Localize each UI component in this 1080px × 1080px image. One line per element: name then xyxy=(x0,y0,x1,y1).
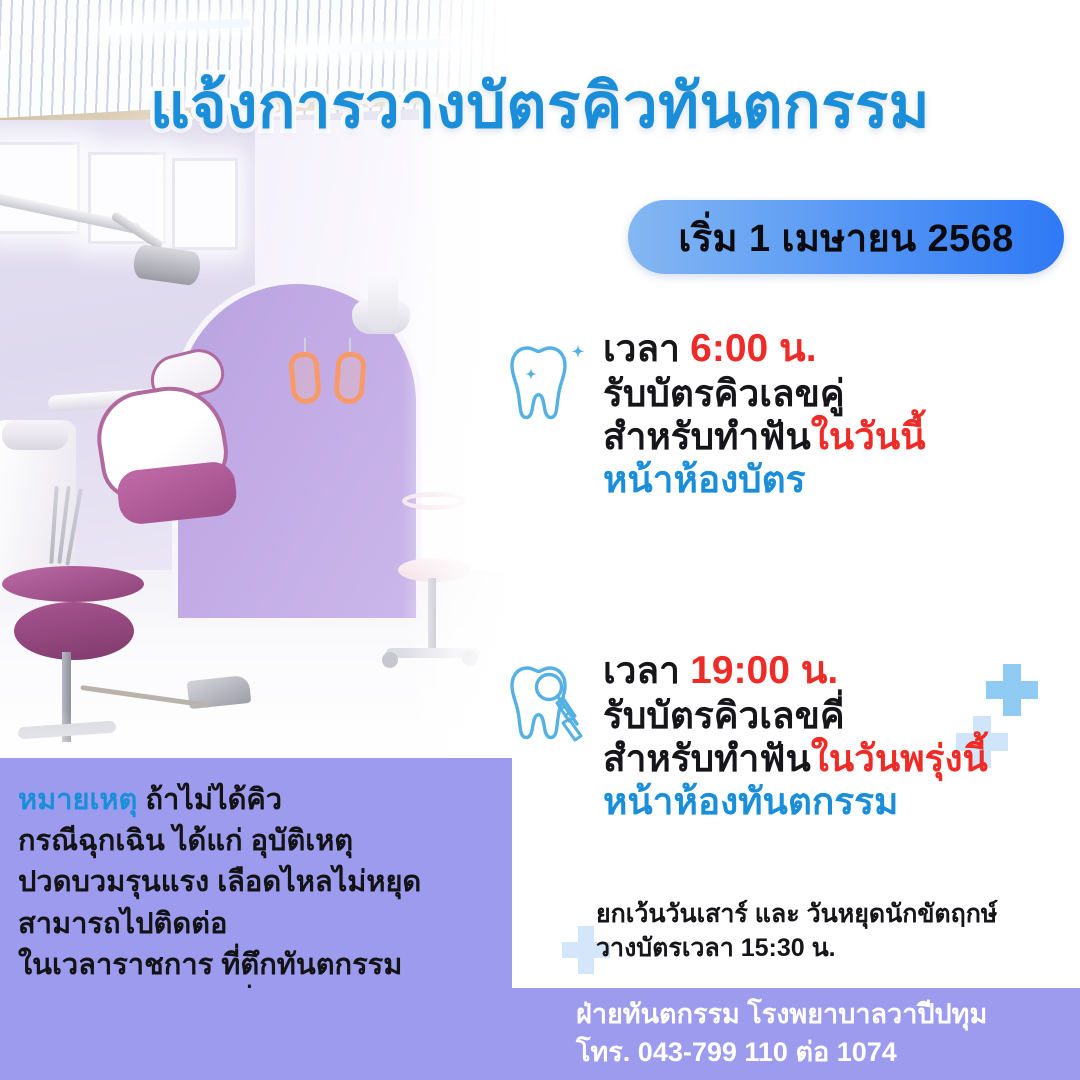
window xyxy=(0,142,80,234)
window xyxy=(172,158,238,250)
remark-label: หมายเหตุ xyxy=(18,784,137,816)
start-date-badge: เริ่ม 1 เมษายน 2568 xyxy=(628,200,1064,274)
orange-hanging-item xyxy=(288,351,322,405)
purpose-line: สำหรับทำฟันในวันพรุ่งนี้ xyxy=(603,737,988,780)
schedule-time-line: เวลา 6:00 น. xyxy=(603,326,926,372)
poster-canvas: แจ้งการวางบัตรคิวทันตกรรม เริ่ม 1 เมษายน… xyxy=(0,0,1080,1080)
time-value: 19:00 น. xyxy=(690,649,838,692)
schedule-text-evening: เวลา 19:00 น. รับบัตรคิวเลขคี่ สำหรับทำฟ… xyxy=(591,648,988,823)
footer-contact-band: ฝ่ายทันตกรรม โรงพยาบาลวาปีปทุม โทร. 043-… xyxy=(0,988,1080,1080)
dental-unit-top xyxy=(2,420,68,450)
schedule-time-line: เวลา 19:00 น. xyxy=(603,648,988,694)
schedule-block-morning: เวลา 6:00 น. รับบัตรคิวเลขคู่ สำหรับทำฟั… xyxy=(505,326,926,501)
dental-light-secondary-arm xyxy=(368,272,398,332)
footer-phone: โทร. 043-799 110 ต่อ 1074 xyxy=(576,1034,1080,1072)
tooth-mirror-icon xyxy=(505,648,591,746)
purpose-highlight: ในวันพรุ่งนี้ xyxy=(811,738,988,779)
purpose-line: สำหรับทำฟันในวันนี้ xyxy=(603,415,926,458)
time-value: 6:00 น. xyxy=(690,327,816,370)
footer-department: ฝ่ายทันตกรรม โรงพยาบาลวาปีปทุม xyxy=(576,996,1080,1034)
dentist-stool-seat xyxy=(2,566,144,602)
poster-title: แจ้งการวางบัตรคิวทันตกรรม xyxy=(0,74,1080,139)
purpose-highlight: ในวันนี้ xyxy=(811,416,926,457)
start-date-text: เริ่ม 1 เมษายน 2568 xyxy=(678,207,1013,268)
stool-caster xyxy=(382,652,398,668)
remark-line-1: หมายเหตุ ถ้าไม่ได้คิว xyxy=(18,780,494,821)
schedule-block-evening: เวลา 19:00 น. รับบัตรคิวเลขคี่ สำหรับทำฟ… xyxy=(505,648,988,823)
tooth-sparkle-icon xyxy=(505,326,591,424)
location-line: หน้าห้องบัตร xyxy=(603,458,926,501)
remark-line-2: กรณีฉุกเฉิน ได้แก่ อุบัติเหตุ xyxy=(18,821,494,862)
schedule-text-morning: เวลา 6:00 น. รับบัตรคิวเลขคู่ สำหรับทำฟั… xyxy=(591,326,926,501)
purpose-label: สำหรับทำฟัน xyxy=(603,738,811,779)
queue-line: รับบัตรคิวเลขคี่ xyxy=(603,694,988,737)
time-label: เวลา xyxy=(603,328,680,369)
remark-line-4: สามารถไปติดต่อ xyxy=(18,904,494,945)
orange-hanging-item xyxy=(333,351,367,405)
queue-line: รับบัตรคิวเลขคู่ xyxy=(603,372,926,415)
exception-note-line-2: วางบัตรเวลา 15:30 น. xyxy=(596,932,997,966)
exception-note: ยกเว้นวันเสาร์ และ วันหยุดนักขัตฤกษ์ วาง… xyxy=(596,898,997,966)
remark-line-3: ปวดบวมรุนแรง เลือดไหลไม่หยุด xyxy=(18,862,494,903)
location-line: หน้าห้องทันตกรรม xyxy=(603,780,988,823)
remark-line-1-rest: ถ้าไม่ได้คิว xyxy=(145,784,282,816)
time-label: เวลา xyxy=(603,650,680,691)
plus-cross-icon xyxy=(986,664,1038,716)
remark-line-5: ในเวลาราชการ ที่ตึกทันตกรรม xyxy=(18,945,494,986)
exception-note-line-1: ยกเว้นวันเสาร์ และ วันหยุดนักขัตฤกษ์ xyxy=(596,898,997,932)
purpose-label: สำหรับทำฟัน xyxy=(603,416,811,457)
dentist-stool-cushion xyxy=(14,602,134,660)
